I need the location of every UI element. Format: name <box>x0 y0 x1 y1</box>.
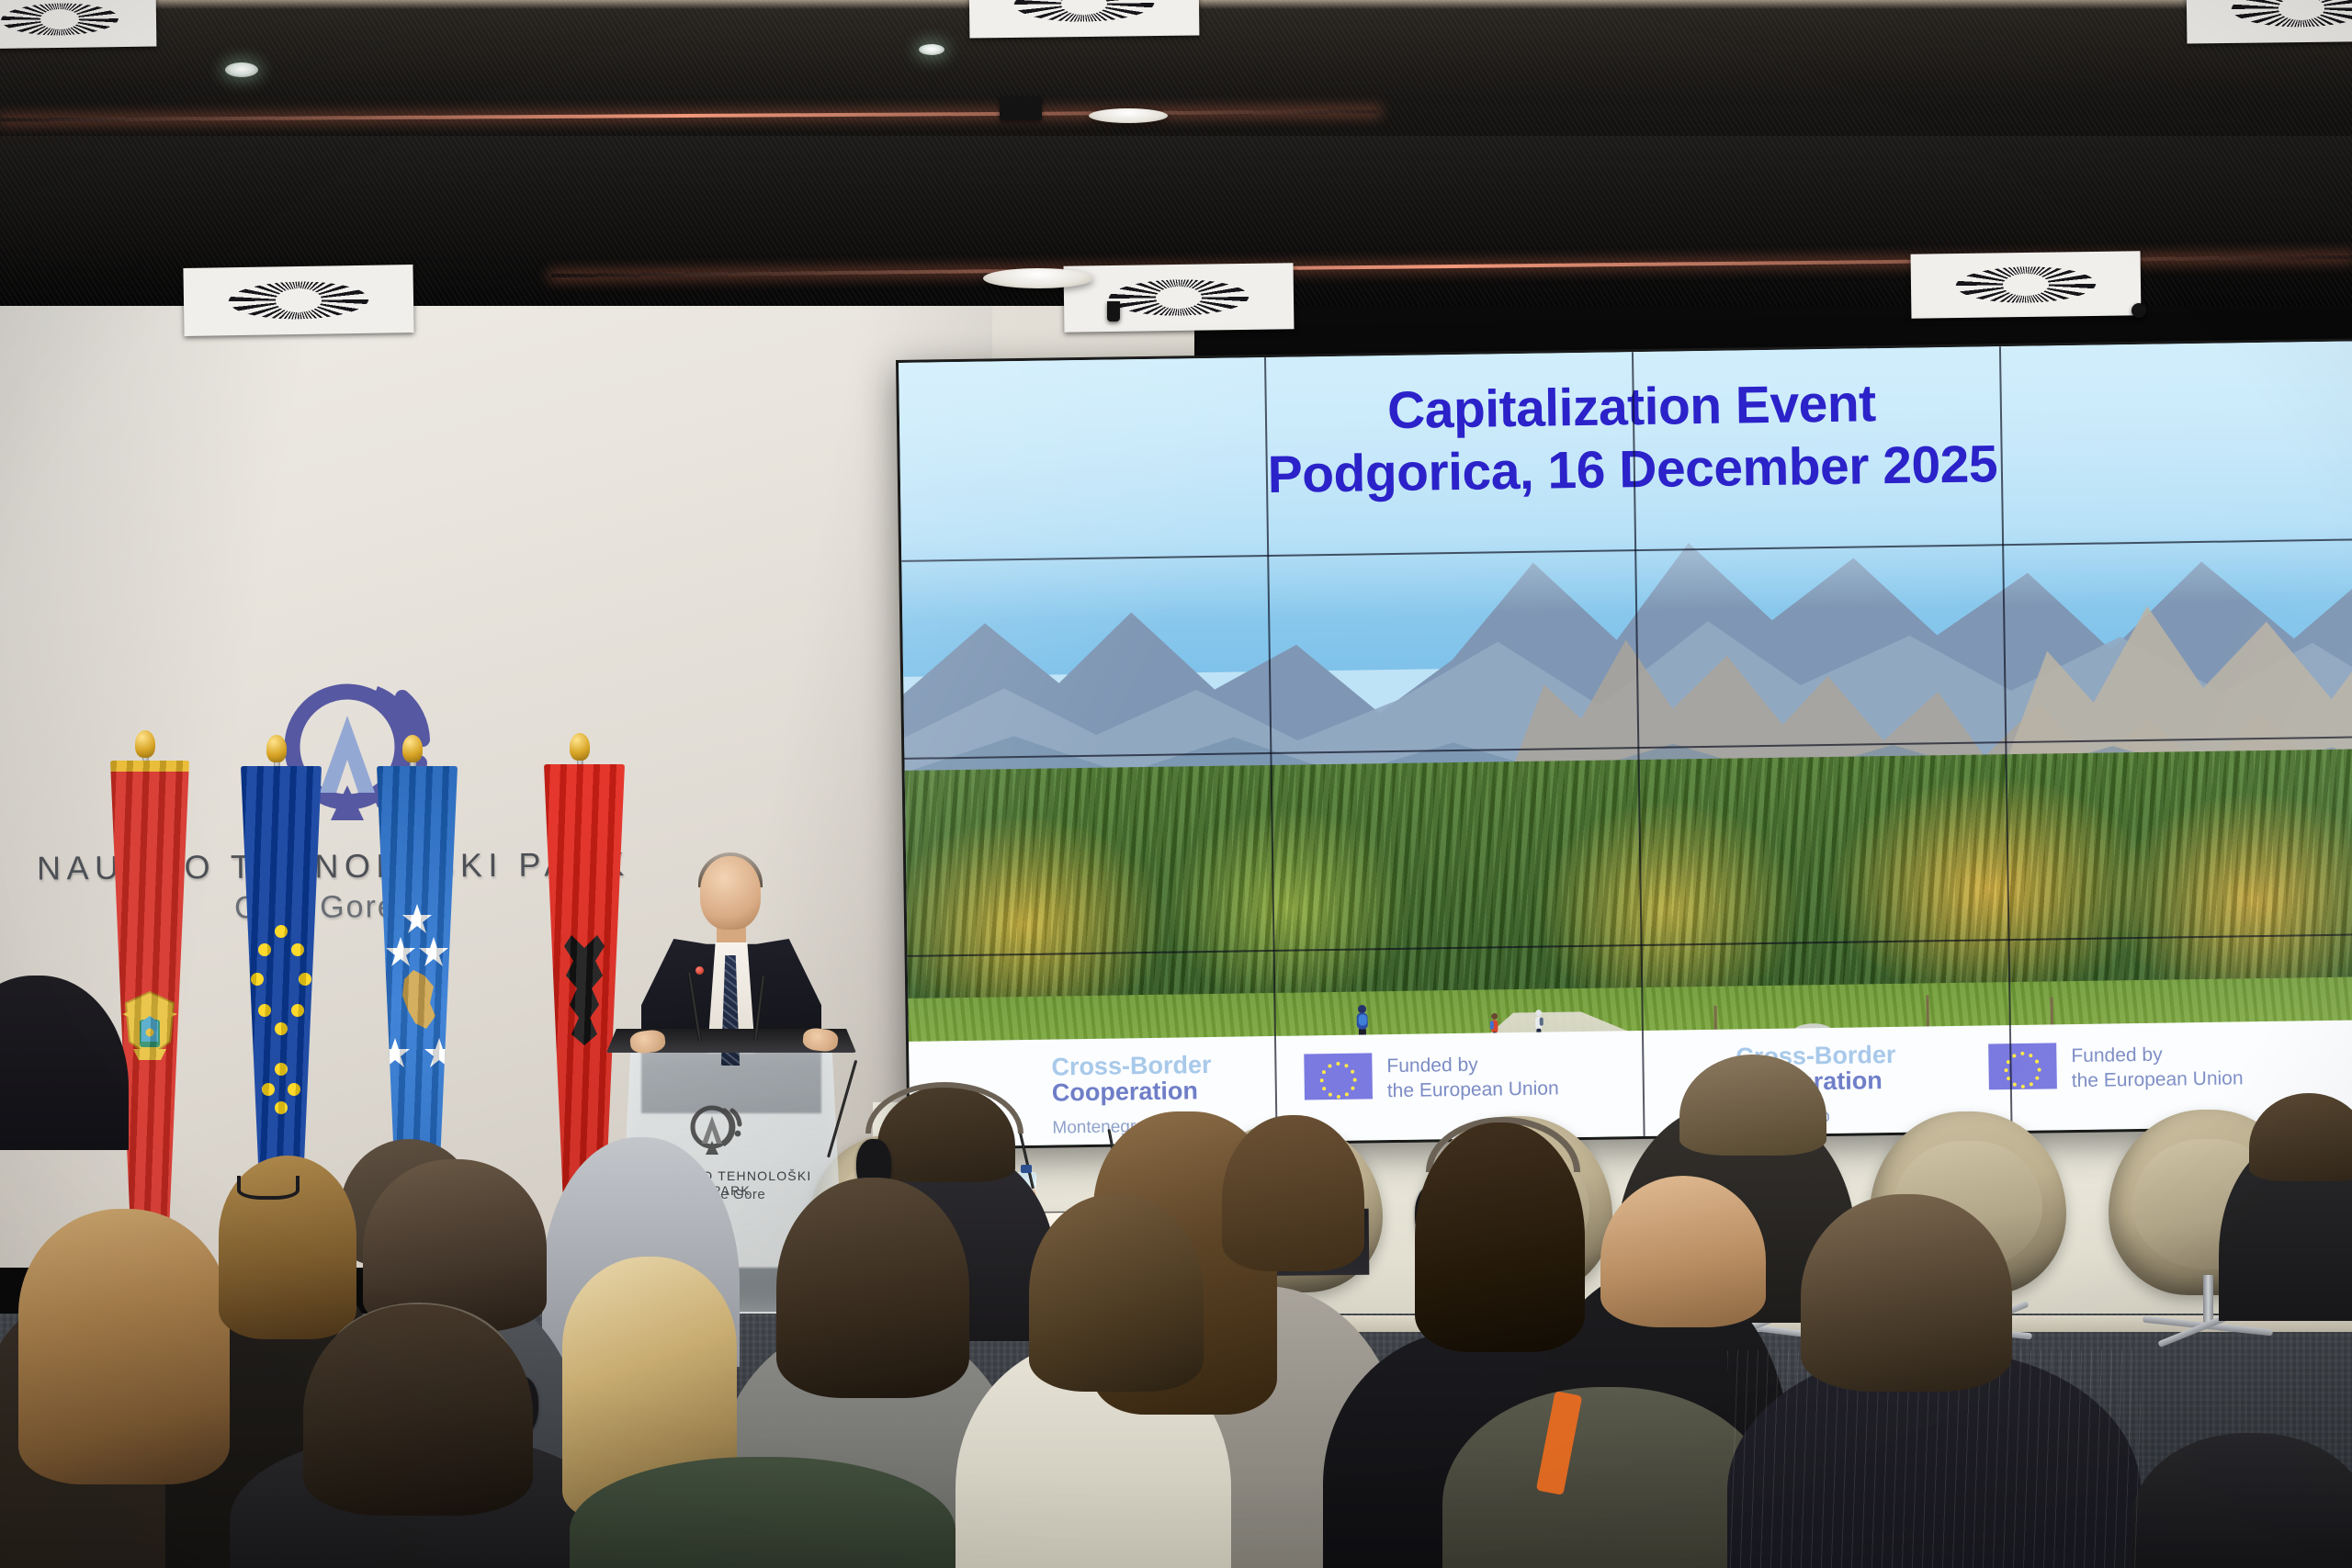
ceiling-downlight <box>225 62 258 77</box>
ceiling-downlight <box>919 44 944 55</box>
flagpole-finial <box>402 735 423 762</box>
ceiling-vent-icon <box>2187 0 2352 44</box>
ceiling-dome-light <box>983 268 1093 288</box>
ceiling-vent-icon <box>1064 263 1295 332</box>
ceiling-dome-light <box>1089 108 1168 123</box>
microphone-head-icon <box>695 966 704 975</box>
conference-hall-scene: NAUČNO TEHNOLOŠKI PARK Crne Gore <box>0 0 2352 1568</box>
audience-person-hair <box>1029 1194 1204 1392</box>
ceiling-sensor-icon <box>2131 303 2146 318</box>
eu-funding-text-right: Funded by the European Union <box>2071 1042 2244 1094</box>
eu-flag-icon <box>1988 1043 2057 1089</box>
audience-person-head <box>1415 1122 1585 1352</box>
ceiling-sensor-icon <box>1107 301 1120 321</box>
audience-person-head <box>303 1304 533 1516</box>
flagpole-finial <box>266 735 287 762</box>
eu-line1: Funded by <box>1386 1052 1558 1079</box>
ceiling-vent-icon <box>183 265 413 336</box>
audience-person-head <box>1222 1115 1364 1271</box>
cbc-line2: Cooperation <box>1052 1077 1212 1106</box>
eyeglasses-icon <box>237 1176 300 1200</box>
cbc-line1: Cross-Border <box>1051 1052 1211 1080</box>
eu-line2: the European Union <box>1387 1077 1559 1104</box>
ceiling-vent-icon <box>969 0 1200 39</box>
bottle-cap <box>1021 1165 1032 1173</box>
audience-person-hair <box>18 1209 230 1484</box>
eu-funding-text-left: Funded by the European Union <box>1386 1052 1559 1104</box>
ceiling-vent-icon <box>1911 251 2142 318</box>
video-wall[interactable]: Capitalization Event Podgorica, 16 Decem… <box>896 338 2352 1150</box>
speaker-head <box>700 856 761 930</box>
slide-title: Capitalization Event Podgorica, 16 Decem… <box>899 367 2352 513</box>
audience-person-head <box>1801 1194 2012 1392</box>
flagpole-finial <box>135 730 155 758</box>
eu-flag-icon <box>1304 1053 1373 1100</box>
eu-line2: the European Union <box>2072 1066 2244 1094</box>
ntp-logo-icon <box>684 1102 754 1159</box>
flagpole-finial <box>570 733 590 761</box>
ceiling-vent-icon <box>0 0 156 49</box>
presentation-slide: Capitalization Event Podgorica, 16 Decem… <box>899 341 2352 1147</box>
eu-line1: Funded by <box>2071 1042 2243 1069</box>
ceiling-projector <box>1000 96 1042 120</box>
audience-person-head <box>776 1178 969 1398</box>
